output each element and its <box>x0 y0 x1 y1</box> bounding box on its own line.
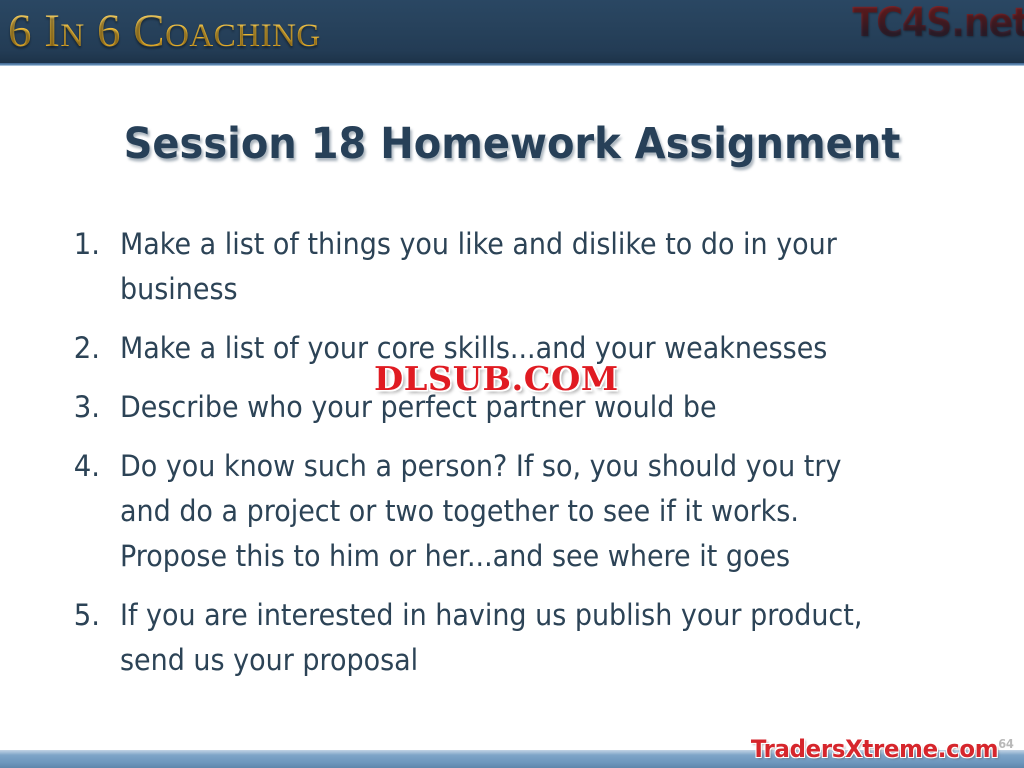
header-underline-divider <box>0 63 1024 66</box>
slide-canvas: 6 In 6 Coaching TC4S.net Session 18 Home… <box>0 0 1024 768</box>
list-item-number: 3. <box>68 385 117 430</box>
list-item-number: 1. <box>68 222 117 267</box>
list-item: 1. Make a list of things you like and di… <box>68 222 958 312</box>
list-item-text: Describe who your perfect partner would … <box>120 385 899 430</box>
footer-logo-superscript: 64 <box>999 737 1014 751</box>
list-item-number: 4. <box>68 444 117 489</box>
list-item-text: Make a list of things you like and disli… <box>120 222 899 312</box>
slide-title: Session 18 Homework Assignment <box>36 118 988 170</box>
list-item-text: Make a list of your core skills...and yo… <box>120 326 899 371</box>
list-item: 4. Do you know such a person? If so, you… <box>68 444 958 579</box>
list-item: 2. Make a list of your core skills...and… <box>68 326 958 371</box>
tc4s-site-logo: TC4S.net <box>852 0 1024 46</box>
list-item: 3. Describe who your perfect partner wou… <box>68 385 958 430</box>
list-item-text: Do you know such a person? If so, you sh… <box>120 444 899 579</box>
list-item-number: 5. <box>68 593 117 638</box>
homework-list: 1. Make a list of things you like and di… <box>68 222 958 697</box>
list-item-number: 2. <box>68 326 117 371</box>
header-banner: 6 In 6 Coaching TC4S.net <box>0 0 1024 63</box>
list-item: 5. If you are interested in having us pu… <box>68 593 958 683</box>
brand-title: 6 In 6 Coaching <box>8 5 321 57</box>
footer-logo-text: TradersXtreme.com <box>751 735 998 763</box>
tradersxtreme-footer-logo: TradersXtreme.com64 <box>751 730 1014 763</box>
list-item-text: If you are interested in having us publi… <box>120 593 899 683</box>
